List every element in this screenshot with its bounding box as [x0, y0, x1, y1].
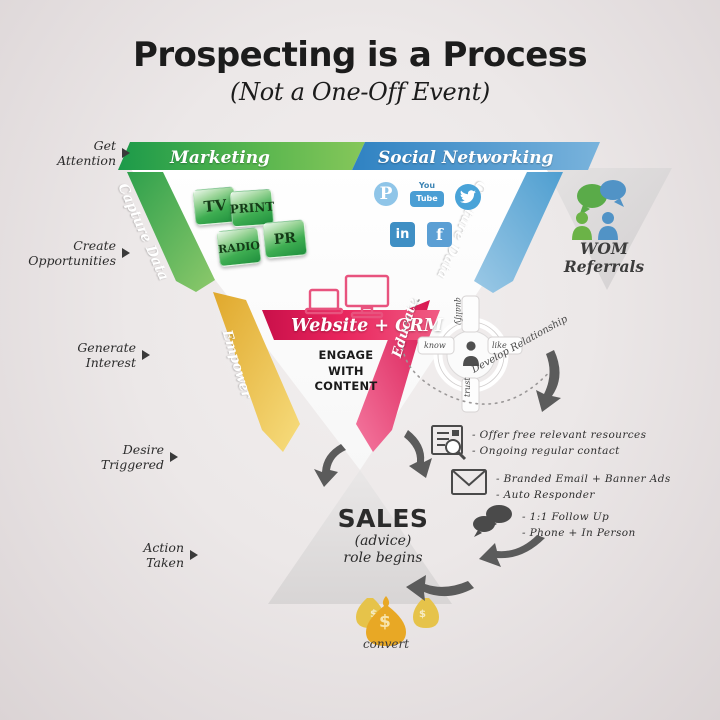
- stage-label-action-taken: Action Taken: [80, 540, 198, 571]
- funnel-bar-marketing[interactable]: Marketing: [170, 148, 270, 168]
- stage-line2: Opportunities: [28, 253, 116, 268]
- stage-line1: Action: [143, 540, 184, 555]
- stage-label-desire-triggered: Desire Triggered: [60, 442, 178, 473]
- bullet-group-email: - Branded Email + Banner Ads - Auto Resp…: [450, 472, 671, 504]
- svg-text:$: $: [419, 609, 426, 620]
- stage-line1: Create: [73, 238, 116, 253]
- sales-title: SALES: [318, 506, 448, 531]
- bullet-item: - Branded Email + Banner Ads: [496, 472, 671, 488]
- bullet-item: - Phone + In Person: [522, 526, 636, 542]
- engage-with-content-label: ENGAGE WITH CONTENT: [303, 348, 389, 395]
- arrow-marker-icon: [190, 550, 198, 560]
- wom-line-2: Referrals: [556, 258, 652, 276]
- linkedin-icon[interactable]: in: [390, 222, 415, 247]
- wom-referrals-label: WOM Referrals: [556, 240, 652, 277]
- funnel-bar-social-networking[interactable]: Social Networking: [378, 148, 553, 168]
- engage-line-1: ENGAGE: [303, 348, 389, 364]
- stage-label-create-opportunities: Create Opportunities: [10, 238, 130, 269]
- stage-label-get-attention: Get Attention: [20, 138, 130, 169]
- convert-label: convert: [350, 637, 422, 651]
- bullet-item: - Auto Responder: [496, 488, 671, 504]
- stage-line2: Attention: [57, 153, 116, 168]
- twitter-icon[interactable]: [455, 184, 481, 210]
- stage-line1: Get: [94, 138, 116, 153]
- stage-line1: Generate: [77, 340, 136, 355]
- engage-line-2: WITH: [303, 364, 389, 380]
- media-tile-pr[interactable]: PR: [263, 219, 308, 259]
- svg-text:$: $: [379, 612, 391, 632]
- youtube-icon[interactable]: You Tube: [410, 181, 444, 207]
- funnel-bar-website-crm[interactable]: Website + CRM: [291, 316, 443, 336]
- bullet-group-followup: - 1:1 Follow Up - Phone + In Person: [480, 510, 636, 542]
- media-tile-radio[interactable]: RADIO: [216, 227, 262, 267]
- bullet-item: - 1:1 Follow Up: [522, 510, 636, 526]
- wom-line-1: WOM: [556, 240, 652, 258]
- stage-label-generate-interest: Generate Interest: [35, 340, 150, 371]
- engage-line-3: CONTENT: [303, 379, 389, 395]
- stage-line2: Taken: [146, 555, 184, 570]
- sales-sub-2: role begins: [318, 550, 448, 567]
- bullet-item: - Offer free relevant resources: [472, 428, 646, 444]
- sales-block: SALES (advice) role begins: [318, 506, 448, 567]
- bullet-group-resources: - Offer free relevant resources - Ongoin…: [428, 428, 646, 460]
- pinterest-icon[interactable]: P: [374, 182, 398, 206]
- sales-sub-1: (advice): [318, 533, 448, 550]
- relationship-label-know: know: [424, 341, 446, 350]
- stage-line2: Triggered: [101, 457, 164, 472]
- stage-line2: Interest: [86, 355, 136, 370]
- arrow-marker-icon: [122, 148, 130, 158]
- arrow-marker-icon: [170, 452, 178, 462]
- facebook-icon[interactable]: f: [427, 222, 452, 247]
- youtube-icon-bottom: Tube: [410, 191, 444, 207]
- stage-line1: Desire: [123, 442, 164, 457]
- relationship-label-qualify: qualify: [454, 297, 463, 325]
- relationship-label-trust: trust: [463, 377, 472, 397]
- infographic-canvas: Prospecting is a Process (Not a One-Off …: [0, 0, 720, 720]
- youtube-icon-top: You: [419, 182, 435, 190]
- arrow-marker-icon: [122, 248, 130, 258]
- arrow-marker-icon: [142, 350, 150, 360]
- bullet-item: - Ongoing regular contact: [472, 444, 646, 460]
